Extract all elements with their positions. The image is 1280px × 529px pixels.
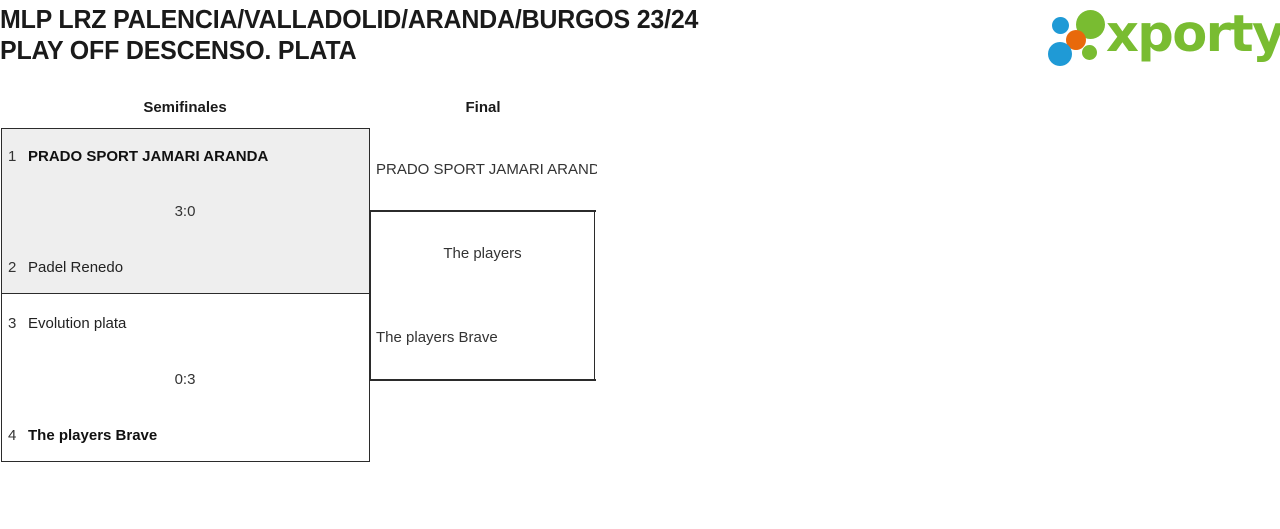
match-slot-final-top[interactable]: PRADO SPORT JAMARI ARANDA [376, 160, 597, 179]
team-name: The players Brave [28, 426, 157, 445]
team-name: PRADO SPORT JAMARI ARANDA [28, 147, 268, 166]
seed-number: 3 [8, 314, 28, 333]
seed-number: 4 [8, 426, 28, 445]
seed-number: 2 [8, 258, 28, 277]
match-slot-semifinal-1-bottom[interactable]: 2 Padel Renedo [8, 258, 123, 277]
match-score-final: The players [370, 244, 595, 263]
round-header-semifinales: Semifinales [60, 98, 310, 117]
match-score-semifinal-1: 3:0 [60, 202, 310, 221]
match-slot-semifinal-2-top[interactable]: 3 Evolution plata [8, 314, 126, 333]
team-name: Evolution plata [28, 314, 126, 333]
match-score-semifinal-2: 0:3 [60, 370, 310, 389]
connector-semifinal-1-to-final [370, 210, 596, 212]
match-box-final[interactable] [370, 211, 595, 380]
tournament-bracket: Semifinales Final 1 PRADO SPORT JAMARI A… [0, 0, 1280, 529]
match-slot-semifinal-2-bottom[interactable]: 4 The players Brave [8, 426, 157, 445]
seed-number: 1 [8, 147, 28, 166]
team-name: Padel Renedo [28, 258, 123, 277]
round-header-final: Final [370, 98, 596, 117]
connector-semifinal-2-to-final [370, 379, 596, 381]
match-slot-semifinal-1-top[interactable]: 1 PRADO SPORT JAMARI ARANDA [8, 147, 268, 166]
match-slot-final-bottom[interactable]: The players Brave [376, 328, 597, 347]
